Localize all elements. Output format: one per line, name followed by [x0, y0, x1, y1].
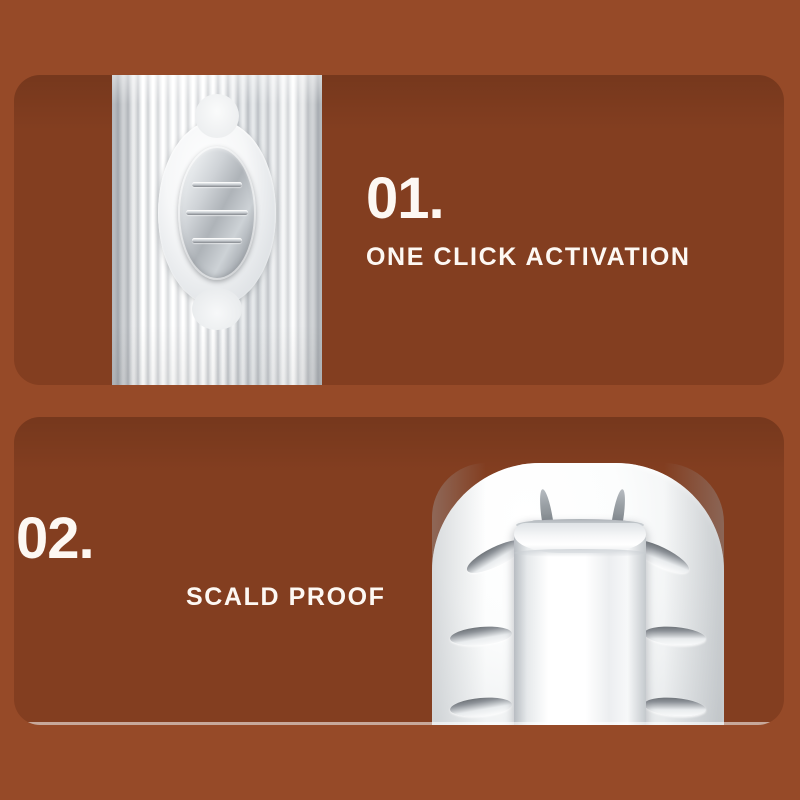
- feature-caption-01: ONE CLICK ACTIVATION: [366, 242, 691, 272]
- button-slot-bottom: [192, 238, 242, 243]
- button-slot-top: [192, 182, 242, 187]
- feature-numeral-02: 02.: [16, 508, 386, 570]
- housing-left-shading: [432, 463, 486, 725]
- housing-right-shading: [664, 463, 724, 725]
- feature-text-01: 01. ONE CLICK ACTIVATION: [366, 168, 691, 272]
- feature-numeral-01: 01.: [366, 168, 691, 230]
- product-feature-infographic: 01. ONE CLICK ACTIVATION 02.: [0, 0, 800, 800]
- product-image-one-click-activation: [112, 75, 322, 385]
- cylinder-cap-seam: [514, 549, 646, 557]
- image-bottom-edge: [14, 722, 784, 725]
- button-slot-middle: [186, 210, 248, 215]
- product-image-scald-proof: [418, 455, 738, 725]
- feature-text-02: 02. SCALD PROOF: [16, 508, 386, 612]
- power-button[interactable]: [178, 146, 256, 280]
- feature-caption-02: SCALD PROOF: [186, 582, 386, 612]
